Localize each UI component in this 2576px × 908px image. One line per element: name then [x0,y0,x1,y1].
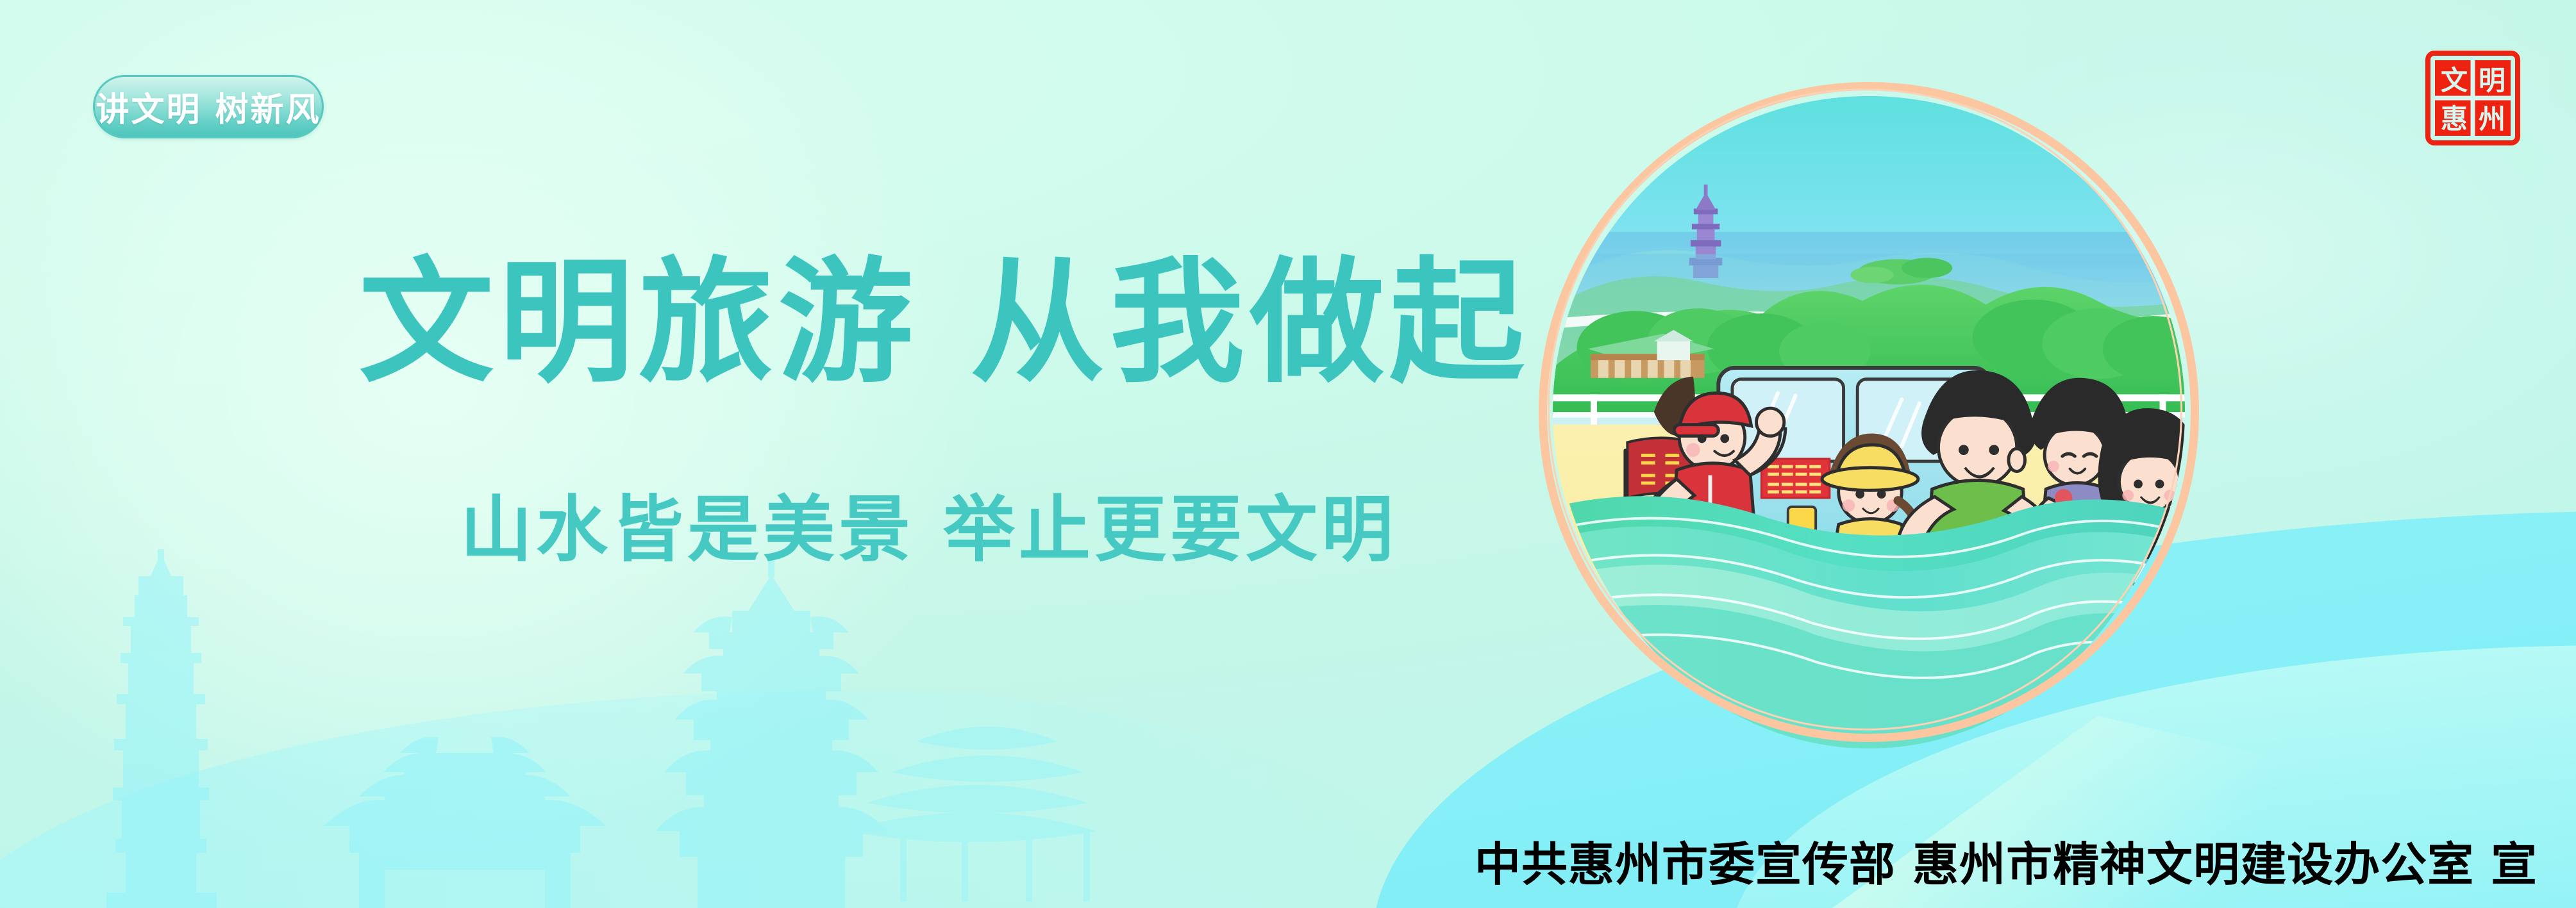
archway-gate-silhouette [324,737,606,908]
footer-attribution: 中共惠州市委宣传部 惠州市精神文明建设办公室 宣 [1475,827,2526,894]
pavilion-silhouette [845,727,1096,902]
page-subtitle: 山水皆是美景 举止更要文明 [460,472,1550,575]
pagoda-silhouette-left [106,549,217,908]
poster-canvas: 讲文明 树新风 文明旅游 从我做起 山水皆是美景 举止更要文明 [0,0,2576,908]
landmark-silhouettes [0,549,1282,908]
slogan-badge[interactable]: 讲文明 树新风 [93,75,324,138]
page-title: 文明旅游 从我做起 [359,251,1577,394]
wenming-huizhou-seal: 文 明 惠 州 [2425,50,2521,146]
slogan-badge-label: 讲文明 树新风 [96,83,321,131]
pagoda-silhouette-right [655,561,887,908]
illustration-circle: 粤L·XXXXX [1539,82,2199,742]
seal-char-hui: 惠 [2441,103,2468,135]
seal-char-ming: 明 [2479,65,2505,96]
seal-char-wen: 文 [2441,65,2468,96]
seal-char-zhou: 州 [2479,103,2505,135]
